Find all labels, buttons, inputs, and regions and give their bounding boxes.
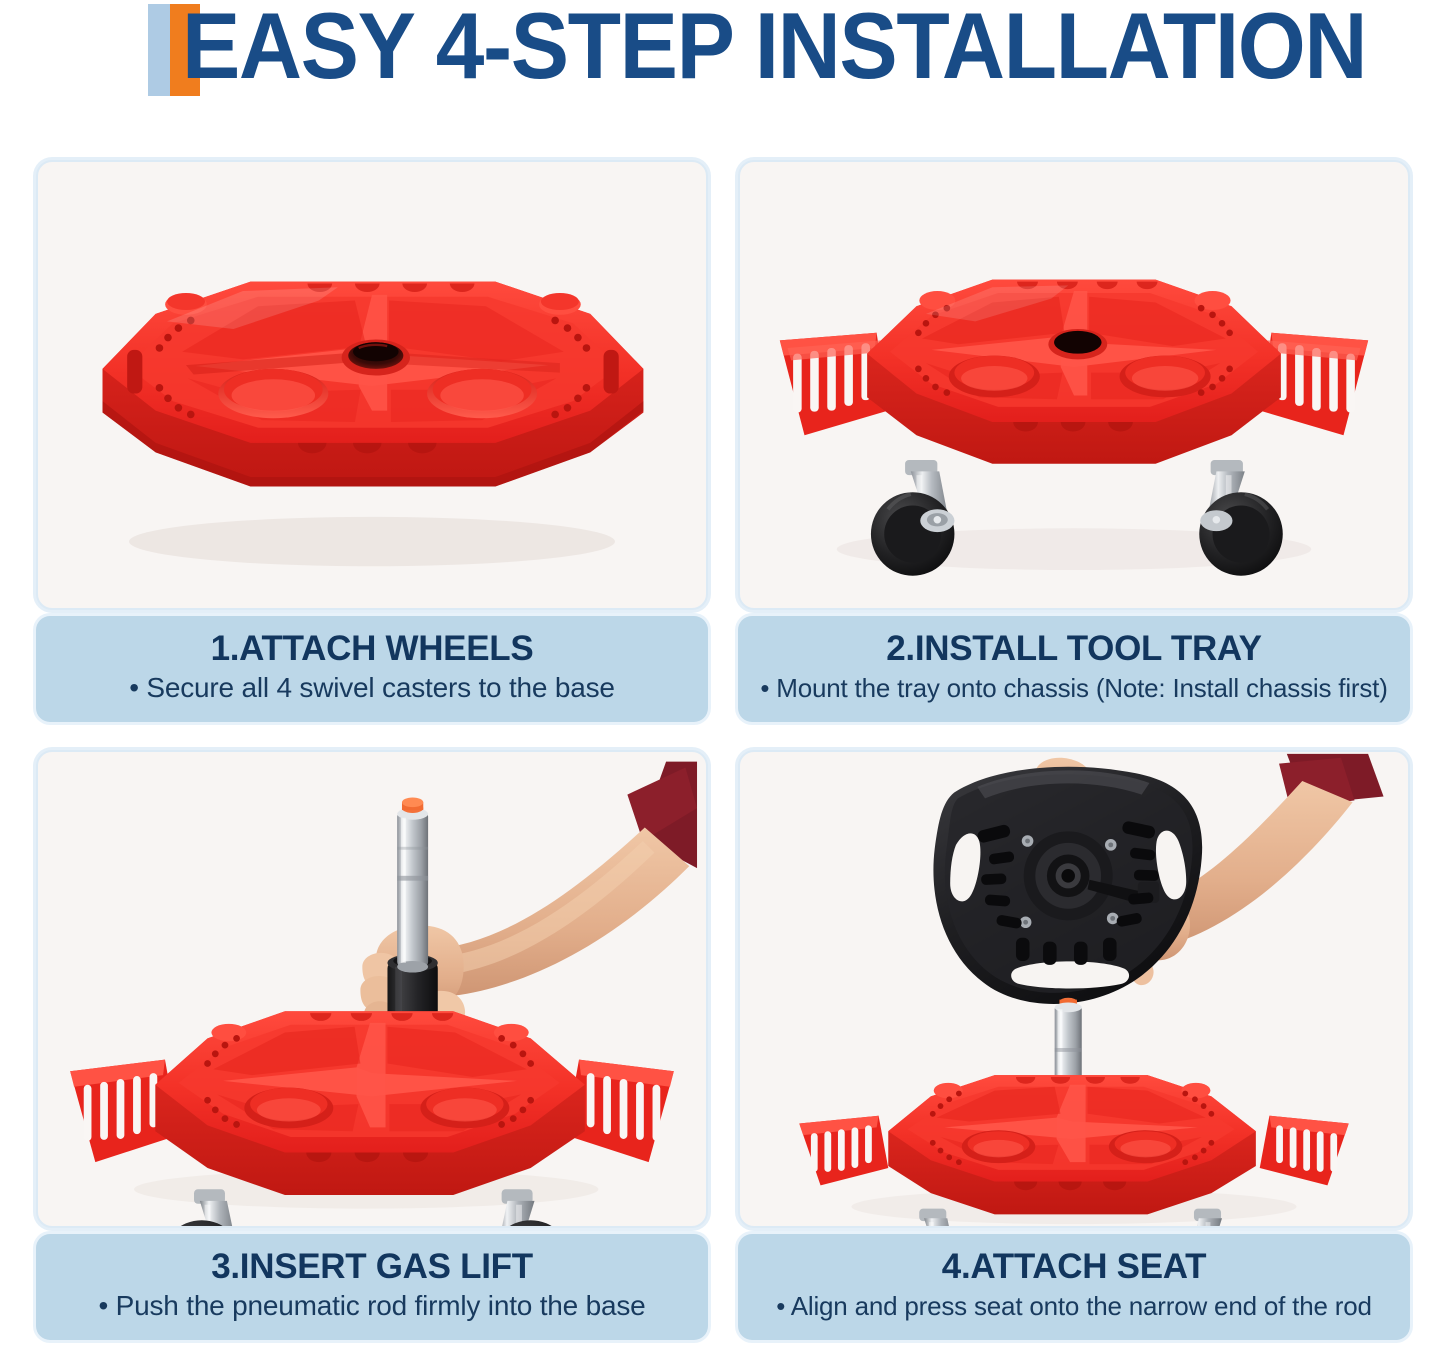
page-header: EASY 4-STEP INSTALLATION	[0, 0, 1445, 120]
hand-inserting-gas-lift-illustration	[38, 752, 706, 1226]
step-3-description: • Push the pneumatic rod firmly into the…	[50, 1288, 694, 1324]
step-card-3: 3.INSERT GAS LIFT • Push the pneumatic r…	[36, 750, 708, 1340]
step-card-1: 1.ATTACH WHEELS • Secure all 4 swivel ca…	[36, 160, 708, 722]
red-base-chassis-illustration	[38, 162, 706, 608]
step-4-title: 4.ATTACH SEAT	[752, 1246, 1396, 1288]
step-4-caption: 4.ATTACH SEAT • Align and press seat ont…	[738, 1234, 1410, 1340]
step-1-caption: 1.ATTACH WHEELS • Secure all 4 swivel ca…	[36, 616, 708, 722]
page-title: EASY 4-STEP INSTALLATION	[182, 0, 1366, 98]
step-1-description: • Secure all 4 swivel casters to the bas…	[50, 670, 694, 706]
step-4-image	[738, 750, 1410, 1228]
step-card-2: 2.INSTALL TOOL TRAY • Mount the tray ont…	[738, 160, 1410, 722]
step-card-4: 4.ATTACH SEAT • Align and press seat ont…	[738, 750, 1410, 1340]
step-1-image	[36, 160, 708, 610]
step-4-description: • Align and press seat onto the narrow e…	[752, 1288, 1396, 1324]
step-2-title: 2.INSTALL TOOL TRAY	[752, 628, 1396, 670]
installation-guide-page: EASY 4-STEP INSTALLATION	[0, 0, 1445, 1368]
step-3-image	[36, 750, 708, 1228]
step-3-caption: 3.INSERT GAS LIFT • Push the pneumatic r…	[36, 1234, 708, 1340]
hands-attaching-seat-illustration	[740, 752, 1408, 1226]
step-2-image	[738, 160, 1410, 610]
step-2-caption: 2.INSTALL TOOL TRAY • Mount the tray ont…	[738, 616, 1410, 722]
accent-bar-blue	[148, 4, 170, 96]
step-2-description: • Mount the tray onto chassis (Note: Ins…	[752, 670, 1396, 706]
base-with-trays-and-casters-illustration	[740, 162, 1408, 608]
steps-grid: 1.ATTACH WHEELS • Secure all 4 swivel ca…	[36, 160, 1410, 1340]
step-1-title: 1.ATTACH WHEELS	[50, 628, 694, 670]
step-3-title: 3.INSERT GAS LIFT	[50, 1246, 694, 1288]
